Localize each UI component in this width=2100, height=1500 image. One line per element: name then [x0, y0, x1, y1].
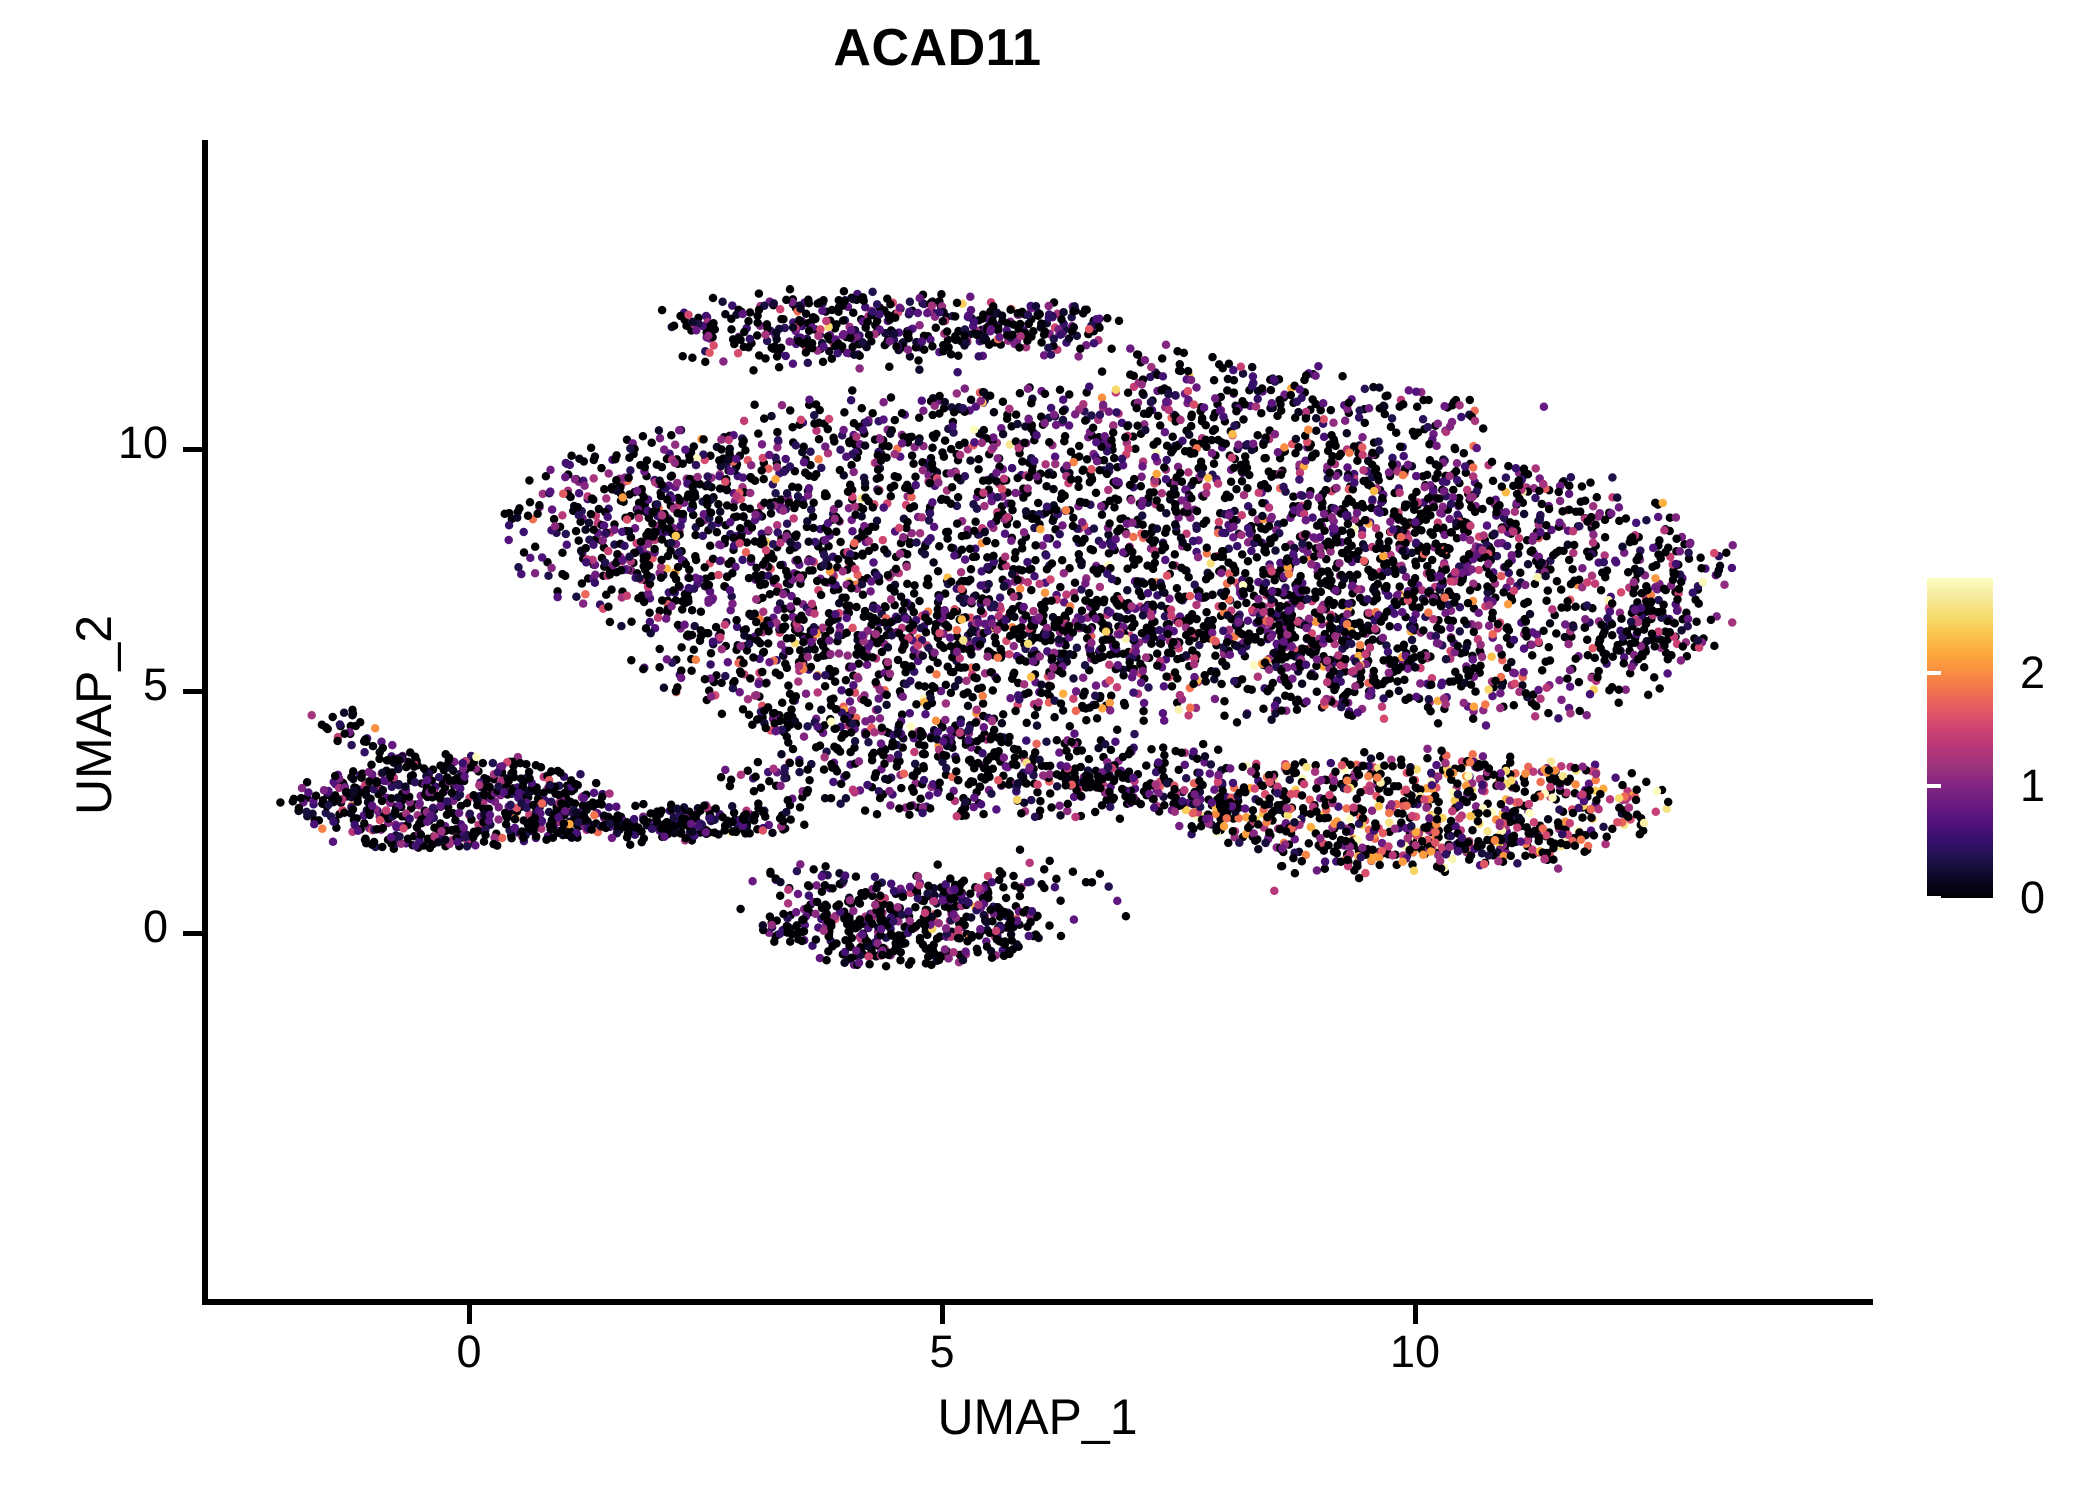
colorbar-tick-label: 2: [2020, 650, 2100, 695]
feature-plot-figure: ACAD11 0510 1050 UMAP_1 UMAP_2 210: [0, 0, 2100, 1500]
colorbar-tick-label: 0: [2020, 875, 2100, 920]
scatter-plot-area: [202, 140, 1873, 1302]
y-tick-mark: [183, 447, 202, 452]
x-axis-title: UMAP_1: [202, 1392, 1873, 1442]
colorbar-tick-mark: [1927, 784, 1941, 788]
x-axis-line: [202, 1299, 1873, 1305]
page-title: ACAD11: [0, 22, 1875, 74]
y-axis-line: [202, 140, 208, 1305]
x-tick-mark: [1413, 1305, 1418, 1324]
colorbar-tick-mark: [1927, 896, 1941, 900]
colorbar-tick-label: 1: [2020, 763, 2100, 808]
scatter-points-layer: [202, 140, 1873, 1302]
colorbar-gradient: [1927, 578, 1993, 898]
x-tick-label: 0: [389, 1328, 549, 1377]
plot-panel: [202, 140, 1873, 1302]
x-tick-mark: [467, 1305, 472, 1324]
x-tick-label: 10: [1335, 1328, 1495, 1377]
expression-colorbar-legend: 210: [1927, 578, 2077, 898]
x-tick-mark: [940, 1305, 945, 1324]
y-tick-mark: [183, 689, 202, 694]
y-axis-title: UMAP_2: [69, 315, 119, 1115]
x-tick-label: 5: [862, 1328, 1022, 1377]
colorbar-tick-mark: [1927, 671, 1941, 675]
y-tick-mark: [183, 931, 202, 936]
